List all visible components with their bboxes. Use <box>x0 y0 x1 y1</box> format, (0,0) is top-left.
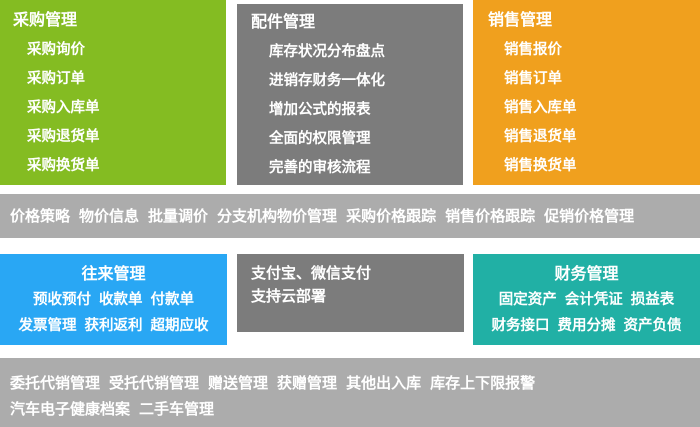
bottom-bar-line-1: 委托代销管理受托代销管理赠送管理获赠管理其他出入库库存上下限报警 <box>10 370 700 396</box>
list-item[interactable]: 采购换货单 <box>27 157 226 175</box>
card-purchase-list: 采购询价 采购订单 采购入库单 采购退货单 采购换货单 <box>13 41 226 175</box>
card-parts-management[interactable]: 配件管理 库存状况分布盘点 进销存财务一体化 增加公式的报表 全面的权限管理 完… <box>237 4 463 185</box>
cloud-payment-line-1: 支付宝、微信支付 <box>251 262 464 285</box>
card-sales-list: 销售报价 销售订单 销售入库单 销售退货单 销售换货单 <box>488 41 700 175</box>
finance-line-1: 固定资产会计凭证损益表 <box>473 289 700 311</box>
price-item[interactable]: 采购价格跟踪 <box>346 207 436 225</box>
list-item[interactable]: 进销存财务一体化 <box>269 72 463 90</box>
finance-line-2: 财务接口费用分摊资产负债 <box>473 315 700 337</box>
list-item[interactable]: 损益表 <box>631 292 675 308</box>
current-account-line-2: 发票管理获利返利超期应收 <box>0 315 227 337</box>
list-item[interactable]: 销售退货单 <box>504 128 700 146</box>
card-purchase-management[interactable]: 采购管理 采购询价 采购订单 采购入库单 采购退货单 采购换货单 <box>0 0 226 185</box>
list-item[interactable]: 收款单 <box>99 292 143 308</box>
card-parts-list: 库存状况分布盘点 进销存财务一体化 增加公式的报表 全面的权限管理 完善的审核流… <box>251 43 463 177</box>
card-sales-management[interactable]: 销售管理 销售报价 销售订单 销售入库单 销售退货单 销售换货单 <box>473 0 700 185</box>
list-item[interactable]: 委托代销管理 <box>10 374 100 392</box>
list-item[interactable]: 采购退货单 <box>27 128 226 146</box>
card-current-account-management[interactable]: 往来管理 预收预付收款单付款单 发票管理获利返利超期应收 <box>0 254 227 345</box>
list-item[interactable]: 采购入库单 <box>27 99 226 117</box>
list-item[interactable]: 财务接口 <box>492 318 550 334</box>
card-cloud-payment[interactable]: 支付宝、微信支付 支持云部署 <box>237 254 464 332</box>
list-item[interactable]: 销售换货单 <box>504 157 700 175</box>
list-item[interactable]: 获赠管理 <box>277 374 337 392</box>
card-purchase-title: 采购管理 <box>13 10 226 30</box>
current-account-line-1: 预收预付收款单付款单 <box>0 289 227 311</box>
list-item[interactable]: 采购订单 <box>27 70 226 88</box>
list-item[interactable]: 资产负债 <box>624 318 682 334</box>
bar-price-strategy[interactable]: 价格策略物价信息批量调价分支机构物价管理采购价格跟踪销售价格跟踪促销价格管理 <box>0 194 700 238</box>
card-finance-management[interactable]: 财务管理 固定资产会计凭证损益表 财务接口费用分摊资产负债 <box>473 254 700 345</box>
list-item[interactable]: 销售入库单 <box>504 99 700 117</box>
list-item[interactable]: 库存上下限报警 <box>430 374 535 392</box>
list-item[interactable]: 会计凭证 <box>565 292 623 308</box>
feature-grid: 采购管理 采购询价 采购订单 采购入库单 采购退货单 采购换货单 配件管理 库存… <box>0 0 700 427</box>
list-item[interactable]: 库存状况分布盘点 <box>269 43 463 61</box>
card-parts-title: 配件管理 <box>251 12 463 32</box>
list-item[interactable]: 预收预付 <box>33 292 91 308</box>
price-item[interactable]: 物价信息 <box>79 207 139 225</box>
list-item[interactable]: 发票管理 <box>19 318 77 334</box>
card-current-account-title: 往来管理 <box>0 263 227 285</box>
list-item[interactable]: 汽车电子健康档案 <box>10 400 130 418</box>
price-item[interactable]: 销售价格跟踪 <box>445 207 535 225</box>
card-finance-title: 财务管理 <box>473 263 700 285</box>
list-item[interactable]: 赠送管理 <box>208 374 268 392</box>
list-item[interactable]: 二手车管理 <box>139 400 214 418</box>
price-item[interactable]: 分支机构物价管理 <box>217 207 337 225</box>
list-item[interactable]: 付款单 <box>151 292 195 308</box>
list-item[interactable]: 费用分摊 <box>558 318 616 334</box>
list-item[interactable]: 全面的权限管理 <box>269 130 463 148</box>
list-item[interactable]: 超期应收 <box>151 318 209 334</box>
price-item[interactable]: 价格策略 <box>10 207 70 225</box>
cloud-payment-line-2: 支持云部署 <box>251 285 464 308</box>
bar-consignment-and-vehicle[interactable]: 委托代销管理受托代销管理赠送管理获赠管理其他出入库库存上下限报警 汽车电子健康档… <box>0 358 700 427</box>
list-item[interactable]: 完善的审核流程 <box>269 159 463 177</box>
list-item[interactable]: 受托代销管理 <box>109 374 199 392</box>
list-item[interactable]: 其他出入库 <box>346 374 421 392</box>
list-item[interactable]: 获利返利 <box>85 318 143 334</box>
card-sales-title: 销售管理 <box>488 10 700 30</box>
list-item[interactable]: 销售订单 <box>504 70 700 88</box>
list-item[interactable]: 增加公式的报表 <box>269 101 463 119</box>
price-item[interactable]: 批量调价 <box>148 207 208 225</box>
list-item[interactable]: 采购询价 <box>27 41 226 59</box>
list-item[interactable]: 销售报价 <box>504 41 700 59</box>
list-item[interactable]: 固定资产 <box>499 292 557 308</box>
price-item[interactable]: 促销价格管理 <box>544 207 634 225</box>
bottom-bar-line-2: 汽车电子健康档案二手车管理 <box>10 396 700 422</box>
price-strategy-items: 价格策略物价信息批量调价分支机构物价管理采购价格跟踪销售价格跟踪促销价格管理 <box>0 205 643 227</box>
